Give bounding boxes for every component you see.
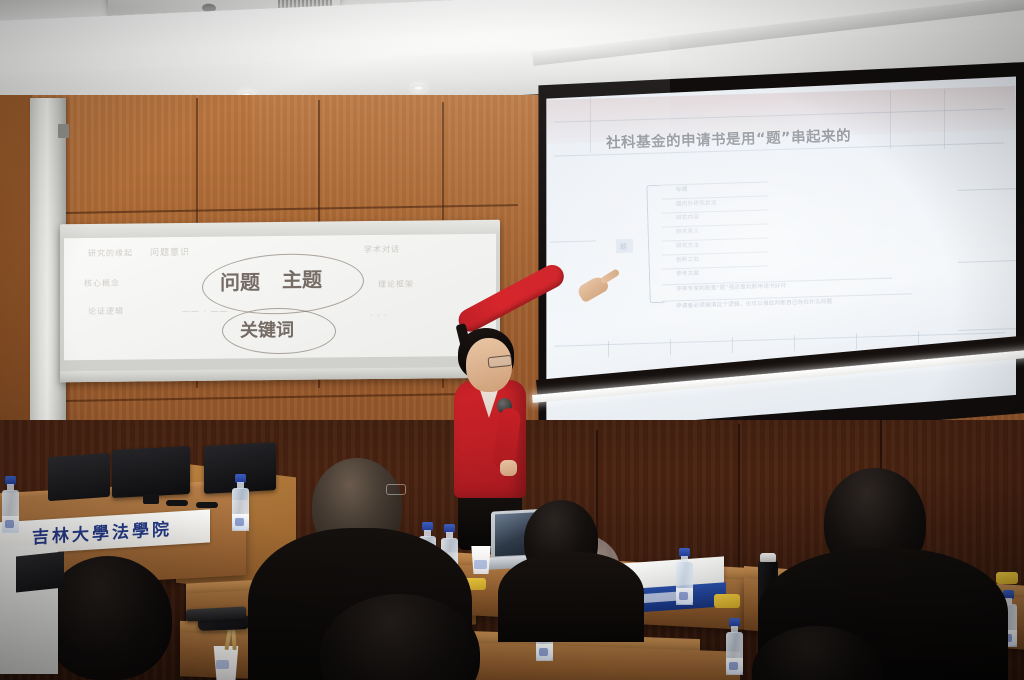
glasses-icon	[386, 484, 406, 495]
podium-laptop[interactable]	[48, 453, 110, 501]
whiteboard-note: 核心概念	[84, 278, 120, 289]
whiteboard-note: —— · ——	[182, 307, 229, 316]
water-bottle	[726, 618, 743, 674]
audience-shoulders	[498, 552, 644, 642]
slide-tick	[794, 335, 795, 351]
left-wall-return	[0, 95, 32, 430]
water-bottle	[676, 548, 693, 604]
slide-gridline	[958, 188, 1016, 191]
slide-gridline	[590, 95, 591, 153]
venue-banner-text: 吉林大學法學院	[32, 515, 172, 549]
bottle-body	[232, 488, 249, 530]
podium-monitor-1[interactable]	[112, 446, 190, 498]
slide-outline-item: 标题	[676, 185, 688, 193]
whiteboard-note: 研究的缘起	[88, 248, 133, 259]
bottle-label	[536, 644, 553, 661]
whiteboard-note: 问题意识	[150, 245, 190, 258]
podium-microphone[interactable]	[196, 502, 218, 508]
whiteboard-term-keyword: 关键词	[240, 316, 294, 343]
whiteboard-note: 学术对话	[364, 244, 400, 255]
paper-cup	[470, 546, 492, 574]
monitor-stand	[143, 494, 159, 504]
slide-key-label: 题	[620, 242, 627, 252]
bottle-label	[726, 658, 743, 675]
bottle-label	[232, 514, 249, 531]
lecture-hall-photo: 研究的缘起 问题意识 学术对话 核心概念 理论框架 论证逻辑 —— · —— ·…	[0, 0, 1024, 680]
whiteboard-note: 论证逻辑	[88, 306, 124, 317]
thermos-cap-icon	[760, 553, 776, 562]
slide-tick	[670, 339, 671, 355]
whiteboard-note: · · ·	[370, 311, 388, 320]
snack-item	[996, 572, 1018, 584]
presenter-mic-hand	[500, 460, 517, 476]
slide-brace	[646, 185, 664, 303]
slide-gridline	[958, 328, 1016, 331]
downlight-icon	[412, 85, 425, 91]
whiteboard: 研究的缘起 问题意识 学术对话 核心概念 理论框架 论证逻辑 —— · —— ·…	[60, 220, 500, 383]
bottle-label	[2, 516, 19, 533]
slide-outline-item: 国内外研究状况	[676, 198, 717, 207]
whiteboard-note: 理论框架	[378, 279, 414, 290]
bottle-label	[676, 588, 693, 605]
whiteboard-term-topic: 主题	[282, 264, 322, 293]
slide-outline-item: 研究内容	[676, 213, 699, 222]
snack-item	[714, 594, 740, 608]
slide-gridline	[944, 89, 945, 149]
water-bottle	[2, 476, 19, 532]
podium-microphone[interactable]	[166, 500, 188, 506]
slide-outline-item: 申请者必须搞清这个逻辑，也可以借此判断自己存在什么问题	[676, 295, 916, 311]
slide-gridline	[958, 260, 1016, 263]
slide-outline-item: 创新之处	[676, 255, 699, 264]
water-bottle	[232, 474, 249, 530]
slide-gridline	[550, 240, 596, 242]
slide-tick	[732, 337, 733, 353]
slide-outline-item: 研究方法	[676, 241, 699, 250]
bottle-body	[676, 562, 693, 604]
slide-outline-item: 研究意义	[676, 227, 699, 236]
bottle-body	[726, 632, 743, 674]
audience-laptop[interactable]	[16, 551, 64, 592]
whiteboard-surface: 研究的缘起 问题意识 学术对话 核心概念 理论框架 论证逻辑 —— · —— ·…	[64, 234, 496, 361]
whiteboard-term-problem: 问题	[220, 266, 260, 295]
bottle-body	[2, 490, 19, 532]
paper-cup	[212, 646, 240, 680]
slide-outline-item: 参考文献	[676, 269, 699, 278]
slide-tick	[856, 333, 857, 349]
pillar-bracket	[58, 124, 69, 138]
presenter	[440, 276, 630, 546]
